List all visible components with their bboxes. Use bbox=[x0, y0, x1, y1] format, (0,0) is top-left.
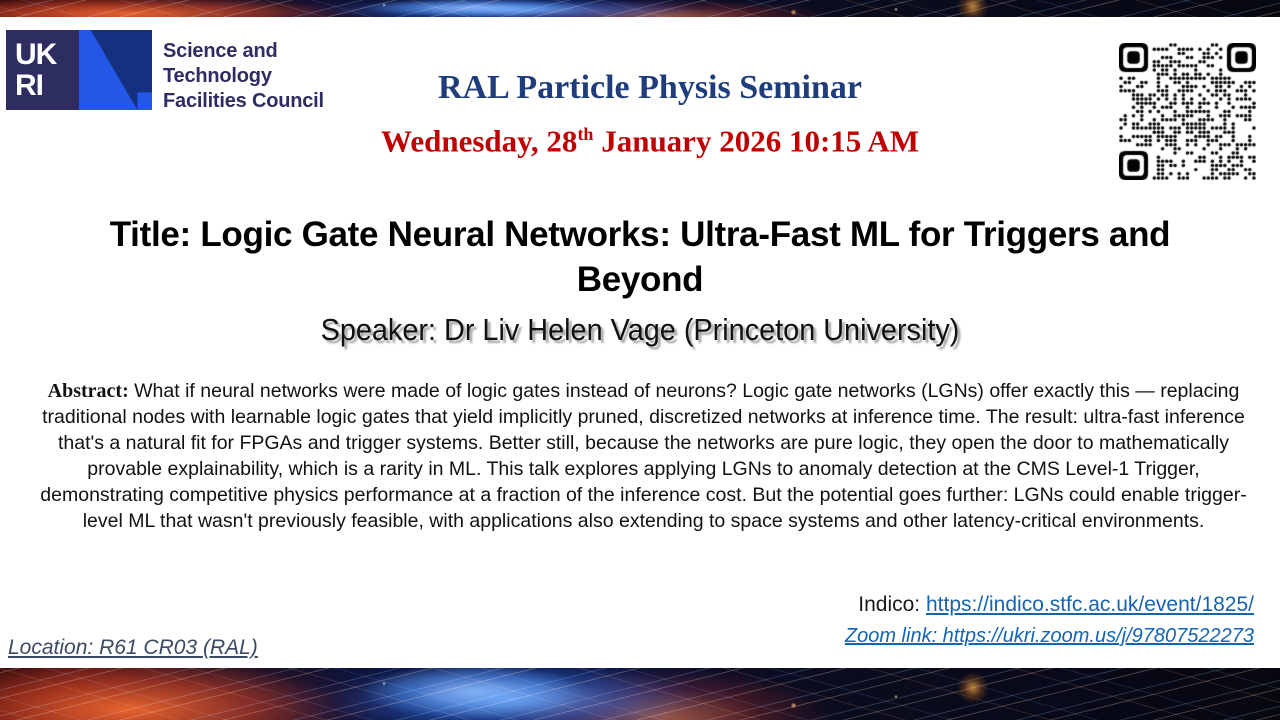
date-suffix: January 2026 10:15 AM bbox=[593, 123, 919, 158]
banner-orb-accent bbox=[0, 0, 1280, 17]
indico-link[interactable]: https://indico.stfc.ac.uk/event/1825/ bbox=[926, 593, 1254, 616]
seminar-series-title: RAL Particle Physis Seminar bbox=[330, 69, 970, 107]
indico-label: Indico: bbox=[858, 593, 926, 616]
talk-title: Title: Logic Gate Neural Networks: Ultra… bbox=[60, 212, 1220, 302]
date-ordinal-suffix: th bbox=[577, 124, 593, 144]
zoom-link[interactable]: Zoom link: https://ukri.zoom.us/j/978075… bbox=[845, 625, 1254, 647]
speaker-line: Speaker: Dr Liv Helen Vage (Princeton Un… bbox=[101, 311, 1180, 349]
poster-header: UK RI Science and Technology Facilities … bbox=[0, 17, 1280, 190]
indico-line: Indico: https://indico.stfc.ac.uk/event/… bbox=[858, 591, 1254, 618]
ukri-logo-letters: UK RI bbox=[15, 39, 73, 101]
top-banner-image bbox=[0, 0, 1280, 17]
zoom-line: Zoom link: https://ukri.zoom.us/j/978075… bbox=[845, 623, 1254, 649]
abstract-body: What if neural networks were made of log… bbox=[40, 380, 1246, 532]
abstract-text: Abstract: What if neural networks were m… bbox=[36, 378, 1251, 534]
bottom-banner-image bbox=[0, 668, 1280, 720]
date-prefix: Wednesday, 28 bbox=[381, 123, 577, 158]
ukri-logo: UK RI bbox=[6, 30, 152, 110]
abstract-label: Abstract: bbox=[48, 380, 129, 402]
seminar-poster: UK RI Science and Technology Facilities … bbox=[0, 0, 1280, 720]
qr-code[interactable] bbox=[1119, 43, 1256, 180]
banner-orb-accent-bottom bbox=[0, 668, 1280, 720]
seminar-date-time: Wednesday, 28th January 2026 10:15 AM bbox=[300, 117, 1000, 158]
location-text: Location: R61 CR03 (RAL) bbox=[8, 634, 258, 661]
qr-code-canvas[interactable] bbox=[1119, 43, 1256, 180]
ukri-logo-line-ri: RI bbox=[15, 70, 73, 101]
stfc-organisation-name: Science and Technology Facilities Counci… bbox=[163, 39, 324, 114]
ukri-logo-line-uk: UK bbox=[15, 39, 73, 70]
